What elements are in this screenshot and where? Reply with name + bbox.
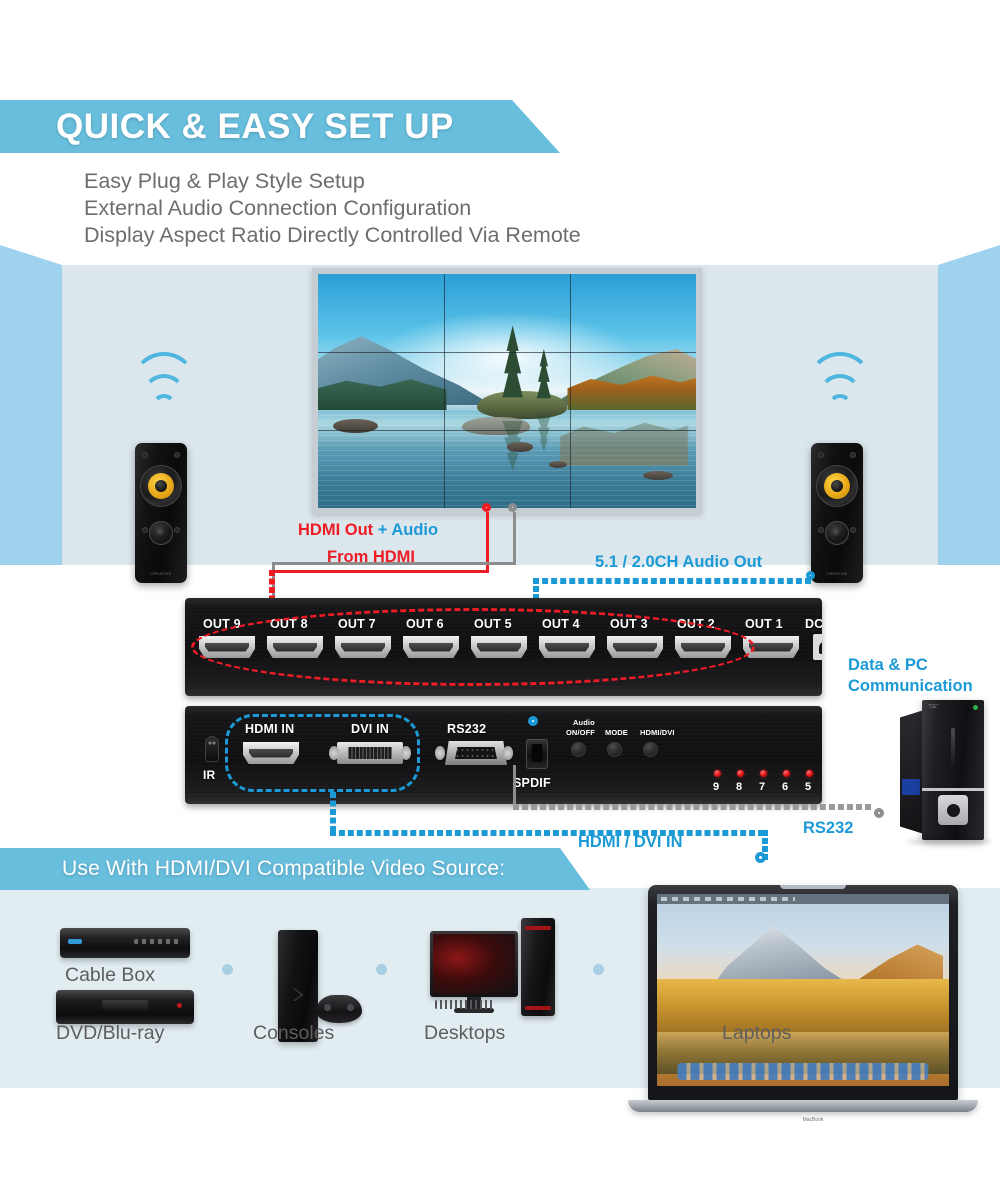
line-rs232-v xyxy=(513,765,516,805)
cable-box-device xyxy=(60,928,190,958)
speaker-woofer-icon xyxy=(816,465,858,507)
callout-hdmi-out: HDMI Out + Audio xyxy=(298,521,438,540)
speaker-screw xyxy=(142,452,148,458)
callout-from-hdmi: From HDMI xyxy=(327,548,415,567)
speaker-tweeter-icon xyxy=(149,521,173,545)
line-hdmi-out-h xyxy=(269,570,489,573)
callout-rs232: RS232 xyxy=(803,819,853,838)
out-label-1: OUT 1 xyxy=(745,617,783,631)
wall-left xyxy=(0,245,62,590)
device-rear-panel-outputs: OUT 9 OUT 8 OUT 7 OUT 6 OUT 5 OUT 4 OUT … xyxy=(185,598,822,696)
line-hdmi-dvi-in-v xyxy=(330,792,336,832)
out-label-6: OUT 6 xyxy=(406,617,444,631)
laptop-lid: MacBook xyxy=(648,885,958,1100)
wall-right xyxy=(938,245,1000,590)
rs232-label: RS232 xyxy=(447,722,486,736)
connector-dot-rs232-pc xyxy=(874,808,884,818)
callout-data-pc-line2: Communication xyxy=(848,676,973,697)
scene-rock-3 xyxy=(643,471,673,480)
speaker-screw xyxy=(818,527,824,533)
led-number-6: 6 xyxy=(782,781,788,793)
main-banner-title: QUICK & EASY SET UP xyxy=(56,107,454,147)
connector-dot-audio-from-hdmi xyxy=(508,503,517,512)
hdmi-out-port-5[interactable] xyxy=(471,636,527,658)
feature-bullets: Easy Plug & Play Style Setup External Au… xyxy=(84,168,581,249)
sources-banner: Use With HDMI/DVI Compatible Video Sourc… xyxy=(0,848,590,890)
hdmi-out-port-7[interactable] xyxy=(335,636,391,658)
dvd-bluray-device xyxy=(56,990,194,1024)
hdmi-out-port-1[interactable] xyxy=(743,636,799,658)
wifi-signal-right-icon xyxy=(805,370,875,418)
out-label-3: OUT 3 xyxy=(610,617,648,631)
feature-bullet-1: Easy Plug & Play Style Setup xyxy=(84,168,581,195)
btn-label-hdmi-dvi: HDMI/DVI xyxy=(640,728,675,737)
led-number-7: 7 xyxy=(759,781,765,793)
pc-tower-side xyxy=(900,710,924,834)
dvi-in-port[interactable] xyxy=(337,742,403,764)
speaker-brand-logo: CREATIVE xyxy=(151,572,172,576)
status-led-7 xyxy=(760,770,767,777)
hdmi-out-port-9[interactable] xyxy=(199,636,255,658)
out-label-2: OUT 2 xyxy=(677,617,715,631)
speaker-screw xyxy=(850,452,856,458)
video-wall-screen xyxy=(318,274,696,508)
hdmi-dvi-button[interactable] xyxy=(643,742,658,757)
callout-plus-audio-text: + Audio xyxy=(378,521,438,539)
source-label-desktops: Desktops xyxy=(424,1022,505,1045)
callout-data-pc: Data & PC Communication xyxy=(848,655,973,697)
line-rs232-h xyxy=(513,804,871,810)
desktop-tower-device xyxy=(521,918,555,1016)
feature-bullet-2: External Audio Connection Configuration xyxy=(84,195,581,222)
bezel-line-v2 xyxy=(570,274,572,508)
line-audio-out-drop xyxy=(533,578,539,600)
bezel-line-h1 xyxy=(318,352,696,354)
hdmi-out-port-6[interactable] xyxy=(403,636,459,658)
audio-onoff-button[interactable] xyxy=(571,742,586,757)
callout-hdmi-out-text: HDMI Out xyxy=(298,521,373,539)
laptop-brand-logo: MacBook xyxy=(803,1117,824,1123)
source-label-laptops: Laptops xyxy=(722,1022,791,1045)
hdmi-out-port-8[interactable] xyxy=(267,636,323,658)
hdmi-out-port-4[interactable] xyxy=(539,636,595,658)
speaker-screw xyxy=(174,452,180,458)
status-led-6 xyxy=(783,770,790,777)
audio-group-label: Audio xyxy=(573,718,595,727)
hdmi-out-port-2[interactable] xyxy=(675,636,731,658)
spdif-optical-port[interactable] xyxy=(526,739,548,769)
db9-screw-right xyxy=(503,746,513,760)
device-rear-panel-inputs: IR HDMI IN DVI IN RS232 SPDIF Audio ON/O… xyxy=(185,706,822,804)
source-label-cable-box: Cable Box xyxy=(65,964,155,987)
ir-sensor-icon xyxy=(205,736,219,762)
speaker-right: CREATIVE xyxy=(811,443,863,583)
source-label-consoles: Consoles xyxy=(253,1022,334,1045)
callout-audio-out: 5.1 / 2.0CH Audio Out xyxy=(595,553,762,572)
dvi-screw-left xyxy=(329,746,339,760)
out-label-7: OUT 7 xyxy=(338,617,376,631)
connector-dot-speaker-right xyxy=(806,571,815,580)
speaker-screw xyxy=(142,527,148,533)
out-label-5: OUT 5 xyxy=(474,617,512,631)
video-wall xyxy=(312,268,702,514)
scene-rock-1 xyxy=(507,442,533,451)
status-led-5 xyxy=(806,770,813,777)
callout-hdmi-dvi-in: HDMI / DVI IN xyxy=(578,833,683,852)
line-hdmi-dvi-in-h xyxy=(330,830,764,836)
source-label-dvd-bluray: DVD/Blu-ray xyxy=(56,1022,164,1045)
pc-tower: CE xyxy=(900,700,992,840)
dvi-screw-right xyxy=(401,746,411,760)
dc-power-jack[interactable] xyxy=(813,634,822,660)
connector-dot-hdmi-out xyxy=(482,503,491,512)
led-number-9: 9 xyxy=(713,781,719,793)
hdmi-out-port-3[interactable] xyxy=(607,636,663,658)
btn-label-mode: MODE xyxy=(605,728,628,737)
line-audio-v xyxy=(513,512,516,562)
ir-label: IR xyxy=(203,768,215,782)
spdif-label: SPDIF xyxy=(513,776,551,790)
speaker-screw xyxy=(174,527,180,533)
wallpaper-field xyxy=(657,979,949,1037)
connector-dot-laptop xyxy=(755,852,766,863)
speaker-screw xyxy=(850,527,856,533)
callout-data-pc-line1: Data & PC xyxy=(848,655,973,676)
separator-dot-1 xyxy=(222,964,233,975)
dc-power-label: DC 12V xyxy=(805,617,822,631)
db9-screw-left xyxy=(435,746,445,760)
btn-label-onoff: ON/OFF xyxy=(566,728,595,737)
menu-bar xyxy=(657,894,949,904)
pc-tower-front: CE xyxy=(922,700,984,840)
led-number-5: 5 xyxy=(805,781,811,793)
line-audio-out-h xyxy=(533,578,811,584)
speaker-left: CREATIVE xyxy=(135,443,187,583)
speaker-woofer-icon xyxy=(140,465,182,507)
infographic-root: QUICK & EASY SET UP Easy Plug & Play Sty… xyxy=(0,0,1000,1200)
hdmi-in-port[interactable] xyxy=(243,742,299,764)
out-label-4: OUT 4 xyxy=(542,617,580,631)
dock[interactable] xyxy=(677,1063,928,1080)
out-label-8: OUT 8 xyxy=(270,617,308,631)
bezel-line-v1 xyxy=(444,274,446,508)
separator-dot-3 xyxy=(593,964,604,975)
mode-button[interactable] xyxy=(607,742,622,757)
laptop-notch xyxy=(780,885,846,889)
status-led-9 xyxy=(714,770,721,777)
desktop-monitor-device xyxy=(430,931,518,997)
main-banner: QUICK & EASY SET UP xyxy=(0,100,560,153)
separator-dot-2 xyxy=(376,964,387,975)
wifi-signal-left-icon xyxy=(129,370,199,418)
connector-dot-spdif xyxy=(528,716,538,726)
laptop-device: MacBook xyxy=(648,885,978,1112)
sources-banner-title: Use With HDMI/DVI Compatible Video Sourc… xyxy=(62,857,505,881)
keyboard-device xyxy=(435,1000,493,1009)
bezel-line-h2 xyxy=(318,430,696,432)
rs232-db9-port[interactable] xyxy=(445,741,507,765)
speaker-tweeter-icon xyxy=(825,521,849,545)
speaker-screw xyxy=(818,452,824,458)
status-led-8 xyxy=(737,770,744,777)
laptop-base xyxy=(628,1100,978,1112)
dvi-in-label: DVI IN xyxy=(351,722,389,736)
out-label-9: OUT 9 xyxy=(203,617,241,631)
gamepad-device xyxy=(316,995,362,1023)
speaker-brand-logo: CREATIVE xyxy=(827,572,848,576)
laptop-screen xyxy=(657,894,949,1086)
led-number-8: 8 xyxy=(736,781,742,793)
hdmi-in-label: HDMI IN xyxy=(245,722,294,736)
pc-tower-shadow xyxy=(906,838,992,845)
